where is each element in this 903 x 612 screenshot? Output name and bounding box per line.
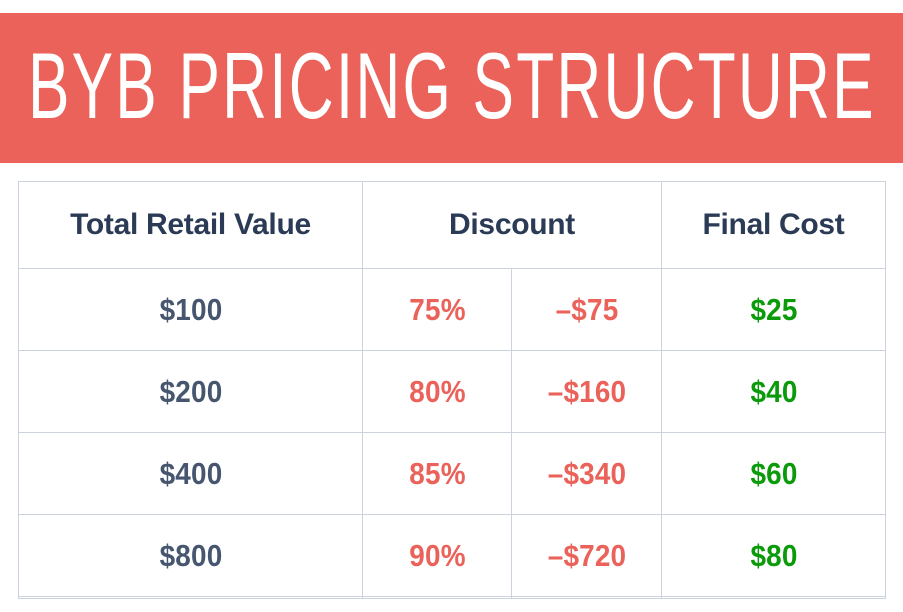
cell-empty (512, 597, 662, 599)
cell-discount-amount: –$75 (519, 269, 654, 351)
header-row: Total Retail Value Discount Final Cost (19, 182, 886, 269)
column-header-discount: Discount (363, 182, 662, 269)
cell-final-cost: $80 (673, 515, 875, 597)
cell-discount-amount: –$160 (519, 351, 654, 433)
column-header-final-cost: Final Cost (662, 182, 886, 269)
table-row: $800 90% –$720 $80 (19, 515, 886, 597)
cell-empty (363, 597, 512, 599)
cell-empty (662, 597, 886, 599)
page-root: BYB Pricing Structure Total Retail Value… (0, 0, 903, 612)
cell-retail-value: $400 (36, 433, 346, 515)
cell-discount-amount: –$340 (519, 433, 654, 515)
table-row: $200 80% –$160 $40 (19, 351, 886, 433)
pricing-table: Total Retail Value Discount Final Cost $… (18, 181, 886, 599)
table-row-partial (19, 597, 886, 599)
cell-discount-amount: –$720 (519, 515, 654, 597)
column-header-total-retail-value: Total Retail Value (19, 182, 363, 269)
cell-final-cost: $60 (673, 433, 875, 515)
cell-discount-percent: 75% (370, 269, 504, 351)
cell-discount-percent: 80% (370, 351, 504, 433)
cell-final-cost: $40 (673, 351, 875, 433)
pricing-table-container: Total Retail Value Discount Final Cost $… (18, 181, 885, 596)
page-title: BYB Pricing Structure (28, 39, 876, 138)
table-body: $100 75% –$75 $25 $200 80% –$160 $40 $40… (19, 269, 886, 599)
cell-retail-value: $100 (36, 269, 346, 351)
cell-empty (19, 597, 363, 599)
cell-final-cost: $25 (673, 269, 875, 351)
header-banner: BYB Pricing Structure (0, 13, 903, 163)
cell-retail-value: $800 (36, 515, 346, 597)
table-row: $400 85% –$340 $60 (19, 433, 886, 515)
cell-retail-value: $200 (36, 351, 346, 433)
table-header: Total Retail Value Discount Final Cost (19, 182, 886, 269)
cell-discount-percent: 90% (370, 515, 504, 597)
table-row: $100 75% –$75 $25 (19, 269, 886, 351)
cell-discount-percent: 85% (370, 433, 504, 515)
